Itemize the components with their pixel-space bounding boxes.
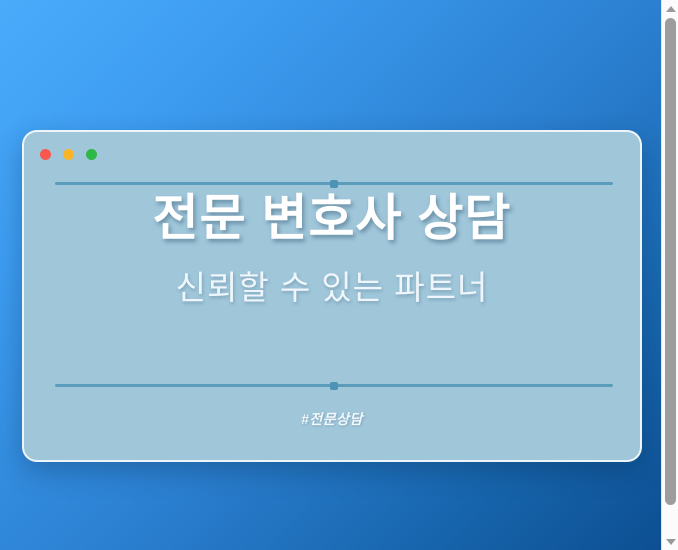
scroll-down-arrow-icon[interactable] [662, 533, 678, 550]
minimize-button-dot[interactable] [63, 149, 74, 160]
slide-canvas: 전문 변호사 상담 신뢰할 수 있는 파트너 #전문상담 [0, 0, 661, 550]
divider-bottom [55, 384, 613, 387]
scrollbar-thumb[interactable] [665, 18, 676, 505]
scroll-up-arrow-icon[interactable] [662, 0, 678, 17]
divider-top [55, 182, 613, 185]
divider-node-icon [330, 180, 338, 188]
window-traffic-lights [40, 149, 97, 160]
presentation-card: 전문 변호사 상담 신뢰할 수 있는 파트너 #전문상담 [22, 130, 642, 462]
maximize-button-dot[interactable] [86, 149, 97, 160]
slide-text-block: 전문 변호사 상담 신뢰할 수 있는 파트너 [24, 188, 640, 308]
hashtag-label: #전문상담 [24, 409, 640, 429]
chevron-down-icon [666, 539, 676, 545]
screenshot-viewport: 전문 변호사 상담 신뢰할 수 있는 파트너 #전문상담 [0, 0, 678, 550]
chevron-up-icon [666, 6, 676, 12]
close-button-dot[interactable] [40, 149, 51, 160]
page-title: 전문 변호사 상담 [24, 188, 640, 249]
divider-node-icon [330, 382, 338, 390]
vertical-scrollbar[interactable] [661, 0, 678, 550]
page-subtitle: 신뢰할 수 있는 파트너 [24, 267, 640, 308]
